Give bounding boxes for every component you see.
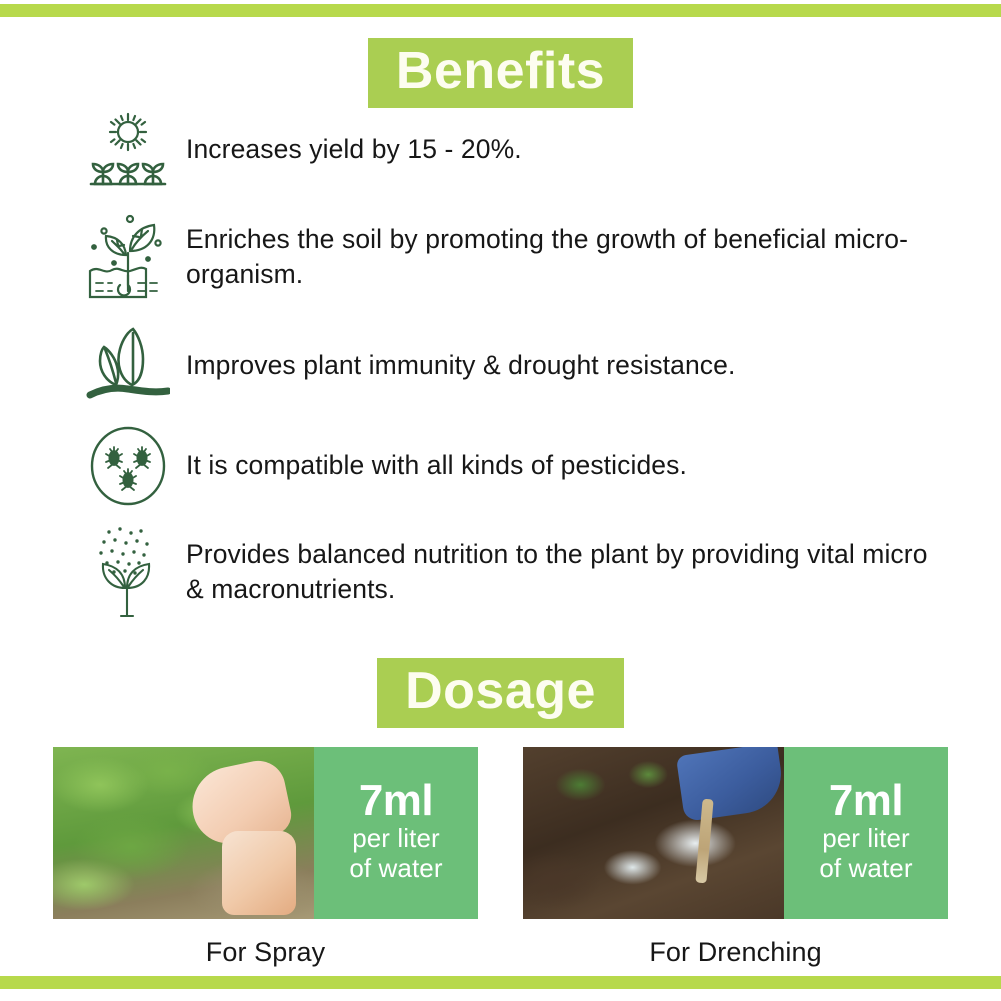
top-accent-bar: [0, 4, 1001, 17]
benefit-item: Enriches the soil by promoting the growt…: [78, 202, 948, 312]
sun-over-seedlings-icon: [78, 110, 178, 190]
dosage-unit-line-2: of water: [349, 853, 442, 883]
benefits-heading-wrap: Benefits: [0, 38, 1001, 108]
benefit-item: Improves plant immunity & drought resist…: [78, 318, 948, 414]
watering-can-drenching-soil-photo: [523, 747, 784, 919]
benefits-list: Increases yield by 15 - 20%.: [78, 104, 948, 632]
dosage-amount: 7ml: [829, 779, 903, 823]
benefit-item-label: Enriches the soil by promoting the growt…: [178, 222, 948, 292]
dosage-amount-panel: 7ml per liter of water: [314, 747, 478, 919]
benefit-item-label: Provides balanced nutrition to the plant…: [178, 537, 948, 607]
dosage-card-body: 7ml per liter of water: [523, 747, 948, 919]
dosage-card-caption: For Drenching: [523, 937, 948, 968]
dosage-unit-line-1: per liter: [822, 823, 910, 853]
dosage-card-drenching: 7ml per liter of water For Drenching: [523, 747, 948, 968]
two-leaves-on-ground-icon: [78, 327, 178, 405]
benefit-item: It is compatible with all kinds of pesti…: [78, 420, 948, 512]
insects-in-circle-icon: [78, 425, 178, 507]
dosage-card-caption: For Spray: [53, 937, 478, 968]
benefit-item-label: Improves plant immunity & drought resist…: [178, 348, 735, 383]
benefit-item-label: Increases yield by 15 - 20%.: [178, 132, 522, 167]
dosage-cards: 7ml per liter of water For Spray 7ml per…: [0, 747, 1001, 968]
benefit-item: Provides balanced nutrition to the plant…: [78, 518, 948, 626]
dosage-unit-line-1: per liter: [352, 823, 440, 853]
dosage-unit-line-2: of water: [819, 853, 912, 883]
benefit-item-label: It is compatible with all kinds of pesti…: [178, 448, 687, 483]
product-benefits-dosage-page: Benefits Incr: [0, 0, 1001, 1001]
dosage-amount-panel: 7ml per liter of water: [784, 747, 948, 919]
bottom-accent-bar: [0, 976, 1001, 989]
dosage-heading: Dosage: [377, 658, 624, 728]
benefit-item: Increases yield by 15 - 20%.: [78, 104, 948, 196]
dosage-heading-wrap: Dosage: [0, 658, 1001, 728]
sprout-with-nutrients-icon: [78, 524, 178, 620]
benefits-heading: Benefits: [368, 38, 633, 108]
dosage-amount: 7ml: [359, 779, 433, 823]
dosage-card-spray: 7ml per liter of water For Spray: [53, 747, 478, 968]
dosage-card-body: 7ml per liter of water: [53, 747, 478, 919]
hand-spraying-plants-photo: [53, 747, 314, 919]
plant-in-soil-icon: [78, 213, 178, 301]
